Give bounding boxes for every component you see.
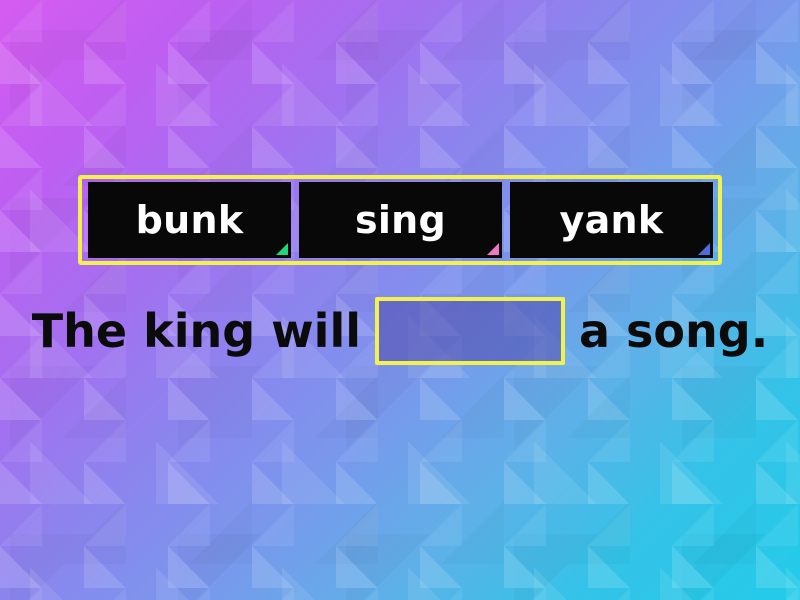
sentence-text-after: a song. bbox=[579, 308, 768, 354]
word-bank-tray: bunk sing yank bbox=[78, 175, 722, 265]
sentence-text-before: The king will bbox=[32, 308, 361, 354]
resize-corner-icon[interactable] bbox=[487, 243, 499, 255]
word-tile-0[interactable]: bunk bbox=[88, 182, 291, 258]
sentence-row: The king will a song. bbox=[0, 286, 800, 376]
resize-corner-icon[interactable] bbox=[698, 243, 710, 255]
word-tile-label: bunk bbox=[136, 201, 244, 239]
word-tile-label: sing bbox=[355, 201, 446, 239]
answer-drop-slot[interactable] bbox=[375, 297, 565, 365]
word-tile-label: yank bbox=[560, 201, 664, 239]
resize-corner-icon[interactable] bbox=[276, 243, 288, 255]
word-tile-2[interactable]: yank bbox=[510, 182, 713, 258]
word-tile-1[interactable]: sing bbox=[299, 182, 502, 258]
activity-stage: bunk sing yank The king will a song. bbox=[0, 0, 800, 600]
